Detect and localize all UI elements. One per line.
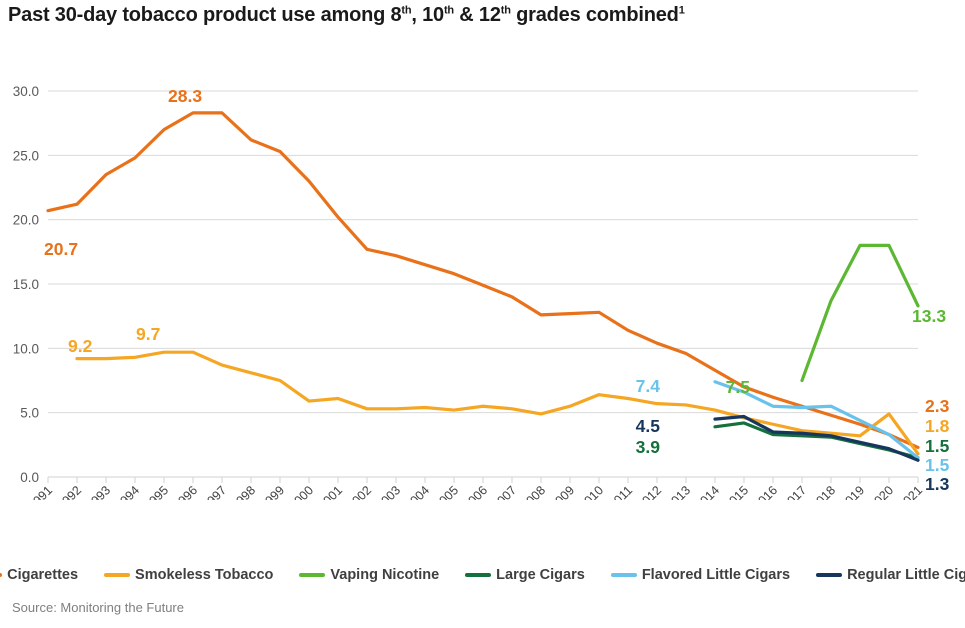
x-tick-label: 2016 [751, 483, 781, 500]
title-sup-10th: th [444, 4, 454, 16]
x-tick-label: 1992 [55, 483, 85, 500]
legend-item-label: Large Cigars [496, 567, 585, 583]
data-label-13-3: 13.3 [912, 306, 946, 326]
legend-item-smokeless-tobacco[interactable]: Smokeless Tobacco [104, 567, 273, 583]
data-label-9-2: 9.2 [68, 336, 93, 356]
title-mid-1: , 10 [411, 4, 444, 26]
x-tick-label: 2000 [287, 483, 317, 500]
y-tick-label: 25.0 [13, 148, 39, 163]
chart-plot-area: 0.05.010.015.020.025.030.0 1991199219931… [0, 60, 965, 500]
x-tick-label: 2003 [374, 483, 404, 500]
x-axis-tick-labels: 1991199219931994199519961997199819992000… [26, 483, 926, 500]
x-tick-label: 2018 [809, 483, 839, 500]
title-sup-8th: th [401, 4, 411, 16]
x-tick-label: 2008 [519, 483, 549, 500]
legend-item-cigarettes[interactable]: Cigarettes [0, 567, 78, 583]
x-tick-label: 2010 [577, 483, 607, 500]
data-label-1-3: 1.3 [925, 474, 950, 494]
x-tick-label: 1997 [200, 483, 230, 500]
data-label-7-5: 7.5 [726, 377, 751, 397]
legend-item-flavored-little-cigars[interactable]: Flavored Little Cigars [611, 567, 790, 583]
line-chart: 0.05.010.015.020.025.030.0 1991199219931… [0, 60, 965, 500]
legend-item-regular-little-cigars[interactable]: Regular Little Cigars [816, 567, 965, 583]
data-label-2-3: 2.3 [925, 396, 950, 416]
legend-item-label: Regular Little Cigars [847, 567, 965, 583]
x-tick-label: 1999 [258, 483, 288, 500]
y-axis-tick-labels: 0.05.010.015.020.025.030.0 [13, 84, 39, 485]
y-tick-label: 20.0 [13, 213, 39, 228]
data-label-20-7: 20.7 [44, 239, 78, 259]
y-tick-label: 30.0 [13, 84, 39, 99]
x-tick-label: 1993 [84, 483, 114, 500]
legend-swatch-icon [104, 573, 130, 577]
x-tick-label: 2009 [548, 483, 578, 500]
x-tick-label: 2019 [838, 483, 868, 500]
title-suffix: grades combined [511, 4, 679, 26]
title-prefix: Past 30-day tobacco product use among 8 [8, 4, 401, 26]
x-tick-label: 2013 [664, 483, 694, 500]
page-title: Past 30-day tobacco product use among 8t… [8, 4, 958, 27]
x-tick-label: 2021 [896, 483, 926, 500]
x-tick-label: 1994 [113, 483, 143, 500]
legend-swatch-icon [465, 573, 491, 577]
x-tick-label: 1991 [26, 483, 56, 500]
legend-item-label: Cigarettes [7, 567, 78, 583]
data-label-3-9: 3.9 [636, 437, 661, 457]
series-line-cigarettes [48, 113, 918, 448]
legend-item-vaping-nicotine[interactable]: Vaping Nicotine [299, 567, 439, 583]
data-label-4-5: 4.5 [636, 416, 661, 436]
data-label-1-8: 1.8 [925, 416, 950, 436]
data-label-1-5: 1.5 [925, 436, 950, 456]
legend-item-label: Smokeless Tobacco [135, 567, 273, 583]
x-tick-label: 2007 [490, 483, 520, 500]
chart-legend: CigarettesSmokeless TobaccoVaping Nicoti… [0, 560, 965, 590]
x-tick-label: 1995 [142, 483, 172, 500]
data-label-9-7: 9.7 [136, 324, 160, 344]
x-tick-label: 2017 [780, 483, 810, 500]
series-line-vaping-nicotine [802, 245, 918, 380]
y-tick-label: 0.0 [20, 470, 39, 485]
x-tick-label: 2006 [461, 483, 491, 500]
title-mid-2: & 12 [454, 4, 501, 26]
x-axis-tick-marks [48, 477, 918, 483]
x-tick-label: 2011 [606, 483, 635, 500]
x-tick-label: 2020 [867, 483, 897, 500]
x-tick-label: 2002 [345, 483, 375, 500]
legend-swatch-icon [0, 573, 2, 577]
data-label-7-4: 7.4 [636, 376, 661, 396]
legend-item-label: Flavored Little Cigars [642, 567, 790, 583]
x-tick-label: 2005 [432, 483, 462, 500]
x-tick-label: 2004 [403, 483, 433, 500]
data-label-28-3: 28.3 [168, 86, 202, 106]
title-sup-12th: th [501, 4, 511, 16]
x-tick-label: 2014 [693, 483, 723, 500]
y-tick-label: 15.0 [13, 277, 39, 292]
x-tick-label: 1998 [229, 483, 259, 500]
legend-swatch-icon [611, 573, 637, 577]
y-tick-label: 10.0 [13, 341, 39, 356]
series-lines [48, 113, 918, 460]
source-note: Source: Monitoring the Future [12, 600, 184, 615]
series-line-large-cigars [715, 423, 918, 458]
x-tick-label: 2012 [635, 483, 665, 500]
x-tick-label: 2015 [722, 483, 752, 500]
data-label-1-5: 1.5 [925, 455, 950, 475]
x-tick-label: 2001 [316, 483, 346, 500]
legend-item-label: Vaping Nicotine [330, 567, 439, 583]
legend-item-large-cigars[interactable]: Large Cigars [465, 567, 585, 583]
y-tick-label: 5.0 [20, 406, 39, 421]
x-tick-label: 1996 [171, 483, 201, 500]
title-footnote-marker: 1 [679, 4, 685, 16]
legend-swatch-icon [816, 573, 842, 577]
legend-swatch-icon [299, 573, 325, 577]
